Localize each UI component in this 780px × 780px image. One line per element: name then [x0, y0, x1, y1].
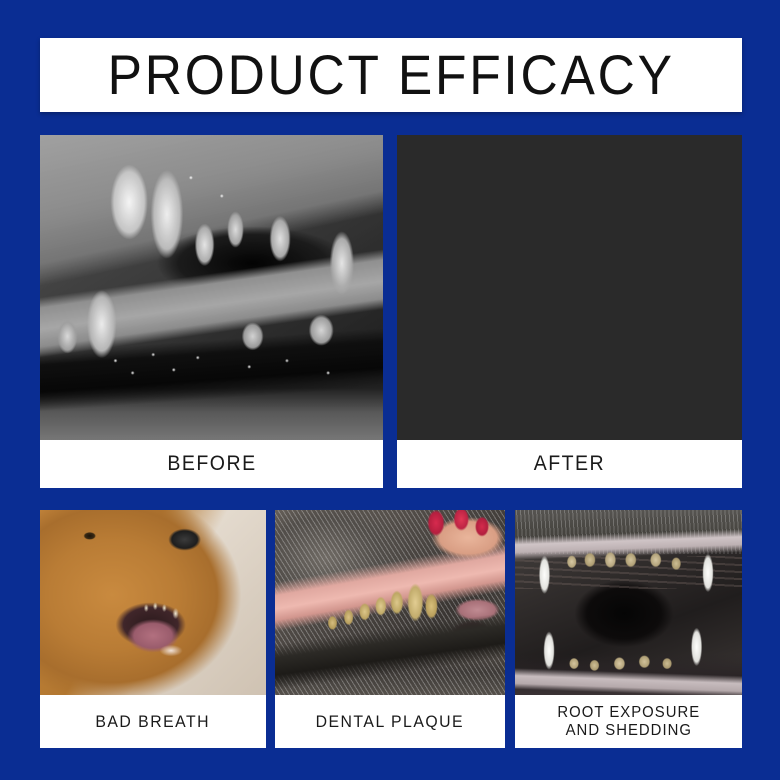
photo-root-exposure	[515, 510, 742, 695]
dog-teeth-before-image	[40, 135, 383, 440]
caption-bar-after: AFTER	[397, 440, 742, 488]
panel-after: AFTER	[397, 135, 742, 488]
golden-dog-yawning-image	[40, 510, 266, 695]
title-banner: PRODUCT EFFICACY	[40, 38, 742, 112]
caption-bar-bad-breath: BAD BREATH	[40, 695, 266, 748]
panel-dental-plaque: DENTAL PLAQUE	[275, 510, 505, 748]
caption-bar-root-exposure: ROOT EXPOSURE AND SHEDDING	[515, 695, 742, 748]
product-efficacy-poster: PRODUCT EFFICACY BEFORE AFTER BAD BREATH	[0, 0, 780, 780]
caption-bad-breath: BAD BREATH	[96, 712, 211, 731]
caption-bar-dental-plaque: DENTAL PLAQUE	[275, 695, 505, 748]
dog-teeth-after-image	[397, 135, 742, 440]
photo-after	[397, 135, 742, 440]
panel-root-exposure: ROOT EXPOSURE AND SHEDDING	[515, 510, 742, 748]
photo-bad-breath	[40, 510, 266, 695]
photo-before	[40, 135, 383, 440]
panel-before: BEFORE	[40, 135, 383, 488]
panel-bad-breath: BAD BREATH	[40, 510, 266, 748]
caption-before: BEFORE	[167, 452, 256, 476]
tartar-covered-teeth-image	[275, 510, 505, 695]
photo-dental-plaque	[275, 510, 505, 695]
page-title: PRODUCT EFFICACY	[107, 47, 674, 103]
caption-bar-before: BEFORE	[40, 440, 383, 488]
caption-after: AFTER	[534, 452, 605, 476]
root-exposure-front-view-image	[515, 510, 742, 695]
caption-dental-plaque: DENTAL PLAQUE	[316, 712, 465, 731]
caption-root-exposure: ROOT EXPOSURE AND SHEDDING	[557, 704, 700, 740]
